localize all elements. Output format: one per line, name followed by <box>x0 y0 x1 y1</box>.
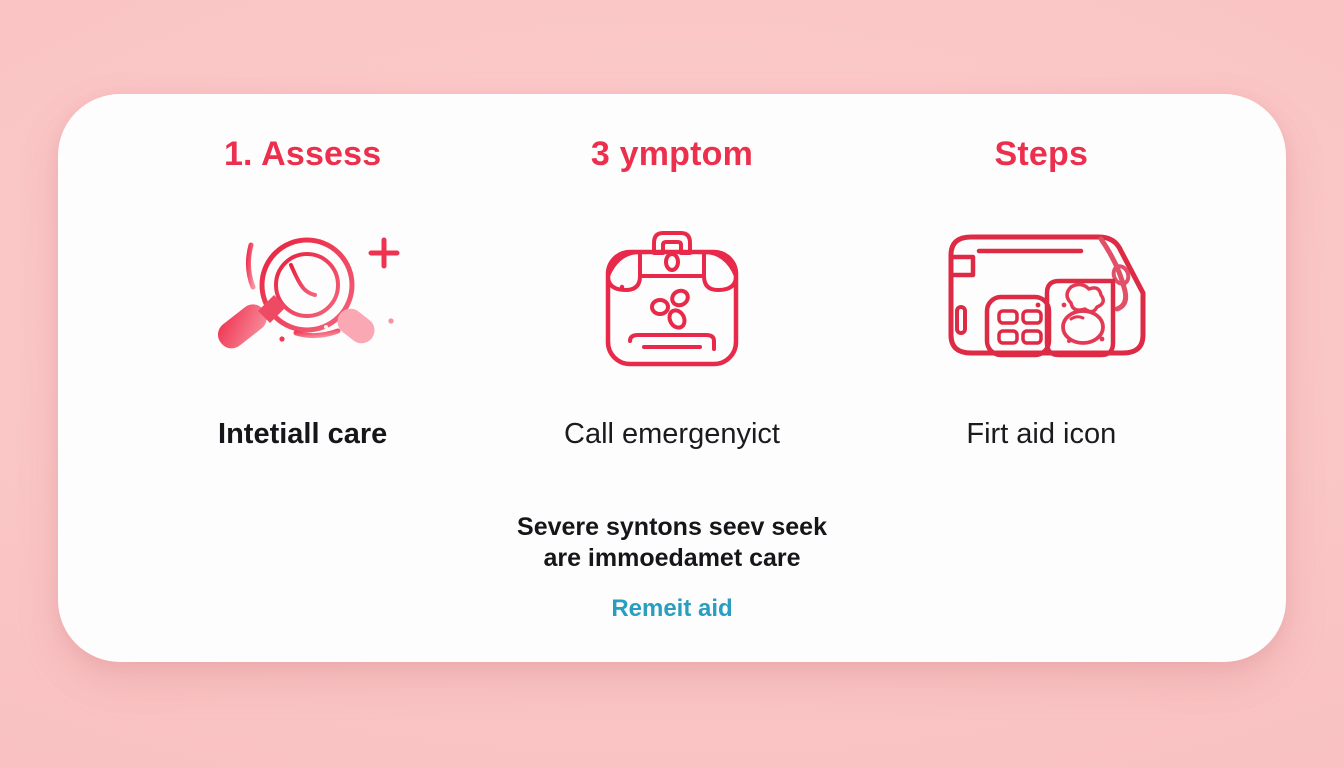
footer-message: Severe syntons seev seek are immoedamet … <box>58 512 1286 623</box>
column-heading: Steps <box>995 134 1089 174</box>
column-caption: Intetiall care <box>218 420 387 449</box>
infographic-canvas: 1. Assess <box>0 0 1344 768</box>
footer-line-2: are immoedamet care <box>543 543 800 574</box>
footer-line-1: Severe syntons seev seek <box>517 512 827 543</box>
medical-bag-icon <box>592 216 752 376</box>
steps-columns: 1. Assess <box>118 134 1226 449</box>
step-column-steps: Steps <box>857 134 1226 449</box>
footer-note: Remeit aid <box>611 595 732 623</box>
first-aid-case-icon <box>931 216 1151 376</box>
info-card: 1. Assess <box>58 94 1286 662</box>
magnifier-clock-icon <box>203 216 403 376</box>
column-heading: 1. Assess <box>224 134 381 174</box>
step-column-symptom: 3 ymptom <box>487 134 856 449</box>
column-caption: Firt aid icon <box>966 420 1116 449</box>
column-heading: 3 ymptom <box>591 134 753 174</box>
step-column-assess: 1. Assess <box>118 134 487 449</box>
column-caption: Call emergenyict <box>564 420 780 449</box>
